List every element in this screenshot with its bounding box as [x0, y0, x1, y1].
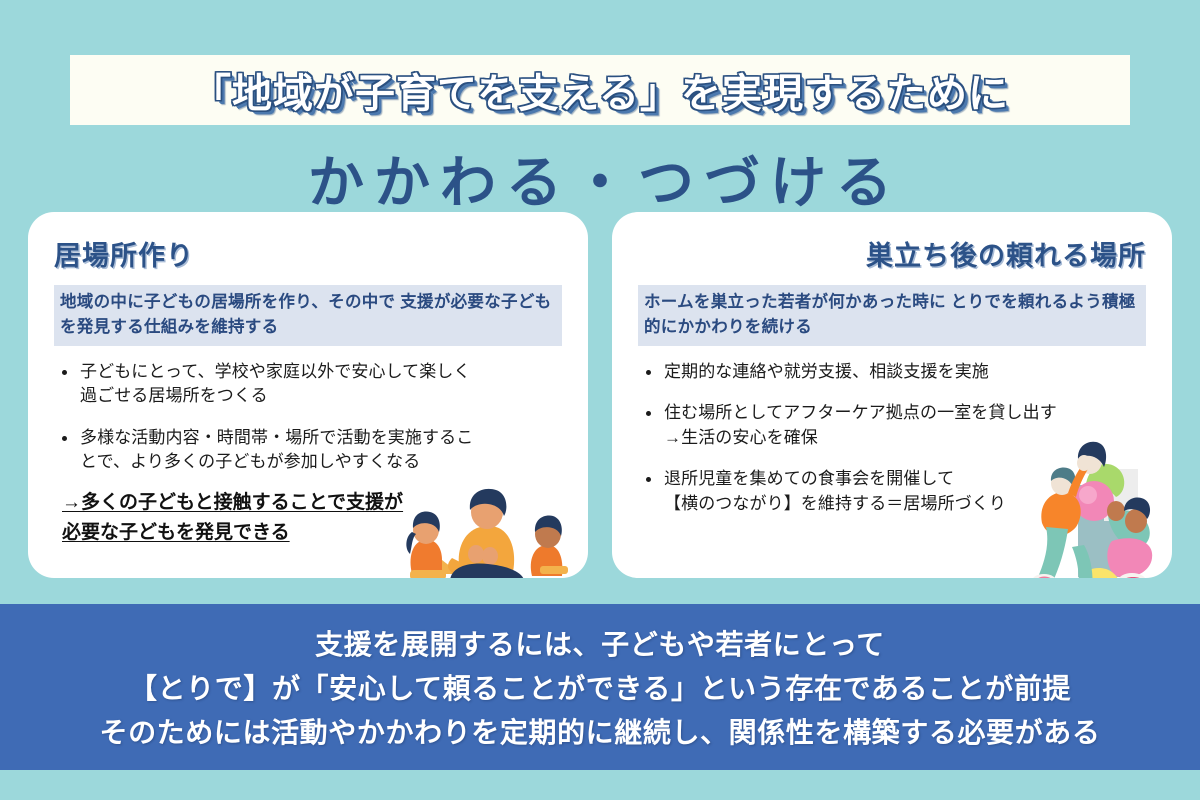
bullet-list-right: 定期的な連絡や就労支援、相談支援を実施 住む場所としてアフターケア拠点の一室を貸… [638, 360, 1146, 517]
card-lead-left: 地域の中に子どもの居場所を作り、その中で 支援が必要な子どもを発見する仕組みを維… [54, 285, 562, 346]
conclusion-left: →多くの子どもと接触することで支援が 必要な子どもを発見できる [62, 492, 403, 542]
list-item: 住む場所としてアフターケア拠点の一室を貸し出す →生活の安心を確保 [638, 401, 1146, 450]
banner-line-3: そのためには活動やかかわりを定期的に継続し、関係性を構築する必要がある [99, 711, 1100, 751]
list-item: 退所児童を集めての食事会を開催して 【横のつながり】を維持する＝居場所づくり [638, 467, 1146, 516]
title-band: 「地域が子育てを支える」を実現するために [70, 55, 1130, 125]
bottom-banner: 支援を展開するには、子どもや若者にとって 【とりで】が「安心して頼ることができる… [0, 604, 1200, 770]
card-heading-right: 巣立ち後の頼れる場所 [638, 234, 1146, 273]
bullet-text: 退所児童を集めての食事会を開催して 【横のつながり】を維持する＝居場所づくり [664, 469, 1006, 513]
card-row: 居場所作り 地域の中に子どもの居場所を作り、その中で 支援が必要な子どもを発見す… [28, 212, 1172, 578]
banner-line-1: 支援を展開するには、子どもや若者にとって [315, 623, 885, 663]
conclusion-left-wrap: →多くの子どもと接触することで支援が 必要な子どもを発見できる [54, 488, 562, 547]
list-item: 定期的な連絡や就労支援、相談支援を実施 [638, 360, 1146, 385]
bullet-text: 多様な活動内容・時間帯・場所で活動を実施するこ とで、より多くの子どもが参加しや… [80, 428, 473, 472]
card-heading-left: 居場所作り [54, 234, 562, 273]
list-item: 多様な活動内容・時間帯・場所で活動を実施するこ とで、より多くの子どもが参加しや… [54, 426, 562, 475]
bullet-text: 住む場所としてアフターケア拠点の一室を貸し出す →生活の安心を確保 [664, 403, 1057, 447]
card-sudachi-go: 巣立ち後の頼れる場所 ホームを巣立った若者が何かあった時に とりでを頼れるよう積… [612, 212, 1172, 578]
banner-line-2: 【とりで】が「安心して頼ることができる」という存在であることが前提 [129, 667, 1071, 707]
card-ibasho-zukuri: 居場所作り 地域の中に子どもの居場所を作り、その中で 支援が必要な子どもを発見す… [28, 212, 588, 578]
card-lead-right: ホームを巣立った若者が何かあった時に とりでを頼れるよう積極的にかかわりを続ける [638, 285, 1146, 346]
bullet-text: 子どもにとって、学校や家庭以外で安心して楽しく 過ごせる居場所をつくる [80, 362, 471, 406]
list-item: 子どもにとって、学校や家庭以外で安心して楽しく 過ごせる居場所をつくる [54, 360, 562, 409]
page-title: 「地域が子育てを支える」を実現するために [191, 61, 1009, 119]
bullet-list-left: 子どもにとって、学校や家庭以外で安心して楽しく 過ごせる居場所をつくる 多様な活… [54, 360, 562, 476]
bullet-text: 定期的な連絡や就労支援、相談支援を実施 [664, 362, 989, 381]
subtitle: かかわる・つづける [0, 138, 1200, 219]
